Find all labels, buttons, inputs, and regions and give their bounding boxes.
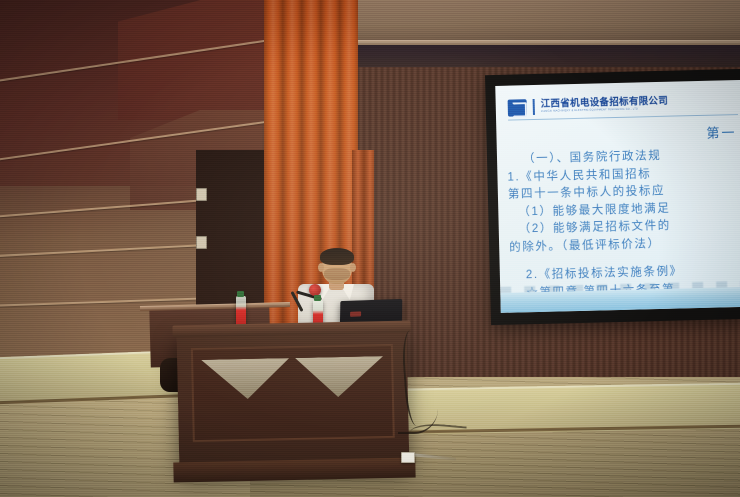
podium-inlay (201, 356, 384, 402)
projection-screen-frame: 江西省机电设备招标有限公司 JIANGXI MACHINERY & ELECTR… (485, 69, 740, 325)
presenter-hair (320, 248, 354, 265)
slide-heading: 第一 (706, 122, 736, 142)
bottle-cap-icon (314, 295, 321, 301)
podium (177, 328, 410, 473)
photo-scene: 江西省机电设备招标有限公司 JIANGXI MACHINERY & ELECTR… (0, 0, 740, 497)
projection-screen: 江西省机电设备招标有限公司 JIANGXI MACHINERY & ELECTR… (495, 80, 740, 313)
company-name: 江西省机电设备招标有限公司 (541, 97, 669, 110)
wall-outlet-icon (196, 236, 207, 249)
wall-outlet-icon (196, 188, 207, 201)
right-wall-dark-band (358, 45, 740, 67)
podium-chevron-left (201, 358, 290, 400)
presenter-face-shadow (324, 268, 350, 280)
presenter-ear-left (318, 263, 324, 272)
slide-body: （一）、国务院行政法规 1.《中华人民共和国招标 第四十一条中标人的投标应 （1… (507, 146, 740, 303)
company-logo-icon (508, 99, 527, 116)
bottle-cap-icon (237, 291, 244, 297)
presenter-ear-right (350, 263, 356, 272)
power-adapter (401, 452, 415, 463)
podium-chevron-right (295, 356, 384, 398)
laptop-logo-icon (350, 311, 361, 316)
logo-divider (533, 99, 535, 115)
